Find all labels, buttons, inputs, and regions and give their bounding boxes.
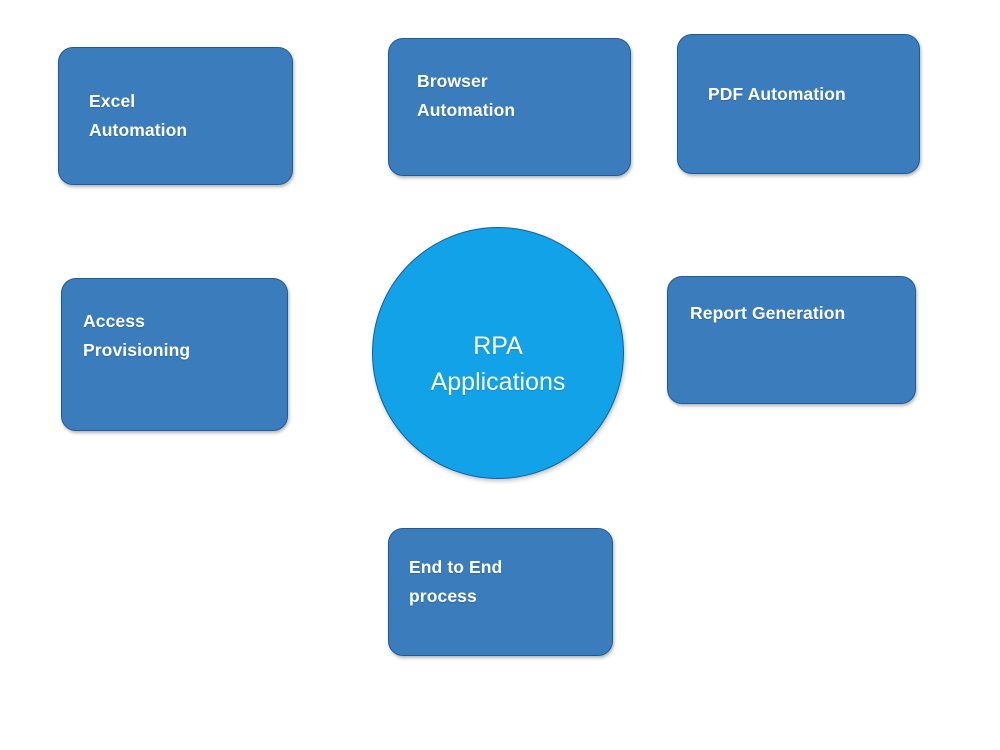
node-report-generation[interactable]: Report Generation [667,276,916,404]
rpa-applications-hub[interactable]: RPA Applications [372,227,624,479]
node-label-end-to-end-process: End to End process [389,529,512,612]
node-label-pdf-automation: PDF Automation [678,35,856,109]
rpa-applications-hub-label: RPA Applications [431,328,566,401]
node-label-report-generation: Report Generation [668,277,855,328]
node-access-provisioning[interactable]: Access Provisioning [61,278,288,431]
node-label-access-provisioning: Access Provisioning [62,279,200,366]
node-excel-automation[interactable]: Excel Automation [58,47,293,185]
node-label-browser-automation: Browser Automation [389,39,525,126]
node-end-to-end-process[interactable]: End to End process [388,528,613,656]
node-browser-automation[interactable]: Browser Automation [388,38,631,176]
node-label-excel-automation: Excel Automation [59,87,197,146]
diagram-canvas: Excel Automation Browser Automation PDF … [0,0,1000,750]
node-pdf-automation[interactable]: PDF Automation [677,34,920,174]
